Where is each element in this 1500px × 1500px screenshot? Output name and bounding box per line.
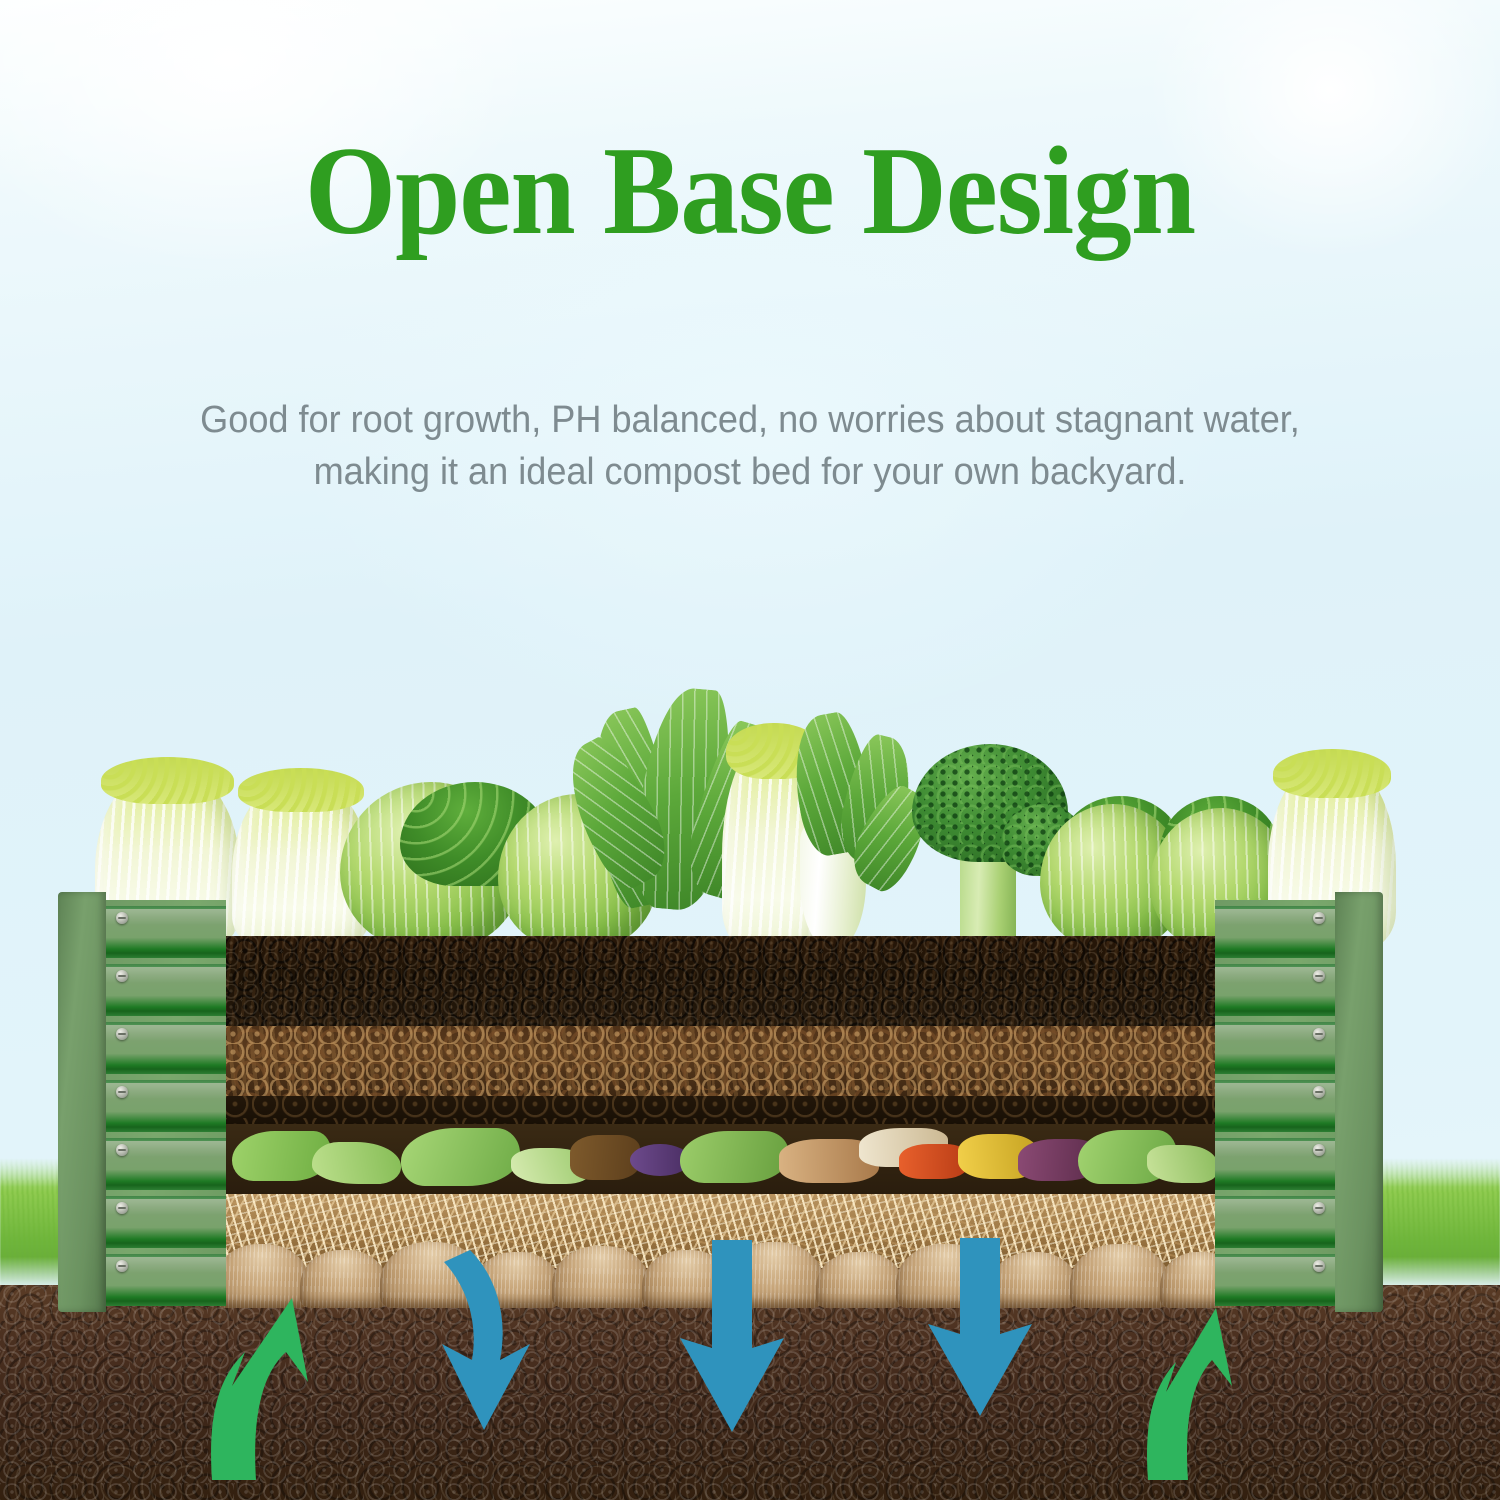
- corrugated-metal-face: [1215, 900, 1337, 1306]
- corner-post-right: [1335, 892, 1383, 1312]
- subtitle-line-2: making it an ideal compost bed for your …: [85, 447, 1415, 499]
- wood-log: [642, 1250, 732, 1308]
- screw-icon: [1313, 1144, 1325, 1156]
- page-subtitle: Good for root growth, PH balanced, no wo…: [50, 395, 1450, 498]
- screw-icon: [1313, 1086, 1325, 1098]
- wood-log: [1070, 1244, 1170, 1308]
- page-title: Open Base Design: [53, 126, 1448, 257]
- subtitle-line-1: Good for root growth, PH balanced, no wo…: [85, 395, 1415, 447]
- wood-log: [896, 1244, 998, 1308]
- screw-icon: [1313, 912, 1325, 924]
- corner-post-left: [58, 892, 106, 1312]
- screw-icon: [116, 970, 128, 982]
- wood-log: [990, 1252, 1078, 1308]
- layer-mulch: [222, 1026, 1217, 1096]
- screw-icon: [116, 1144, 128, 1156]
- vegetable-row: [0, 600, 1500, 950]
- wood-log: [552, 1246, 650, 1308]
- layer-wood-logs: [222, 1238, 1217, 1304]
- screw-icon: [1313, 1202, 1325, 1214]
- wood-log: [380, 1242, 484, 1308]
- layer-kitchen-scraps: [222, 1124, 1217, 1194]
- wood-log: [724, 1242, 824, 1308]
- product-feature-image: Open Base Design Good for root growth, P…: [0, 0, 1500, 1500]
- wood-log: [474, 1252, 560, 1308]
- screw-icon: [116, 912, 128, 924]
- screw-icon: [116, 1202, 128, 1214]
- layer-soil-band: [222, 1096, 1217, 1124]
- corrugated-metal-face: [104, 900, 226, 1306]
- screw-icon: [116, 1086, 128, 1098]
- garden-ground-soil: [0, 1285, 1500, 1500]
- screw-icon: [116, 1260, 128, 1272]
- screw-icon: [1313, 1260, 1325, 1272]
- wood-log: [300, 1250, 388, 1308]
- layer-topsoil: [222, 936, 1217, 1026]
- bed-panel-right: [1215, 900, 1383, 1306]
- wood-log: [214, 1244, 310, 1308]
- screw-icon: [1313, 1028, 1325, 1040]
- wood-log: [816, 1252, 904, 1308]
- screw-icon: [1313, 970, 1325, 982]
- screw-icon: [116, 1028, 128, 1040]
- bed-panel-left: [58, 900, 226, 1306]
